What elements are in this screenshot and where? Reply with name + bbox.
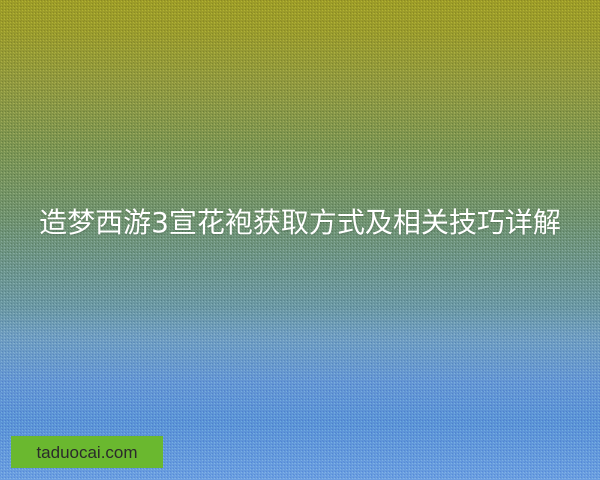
watermark-badge: taduocai.com xyxy=(11,436,163,468)
watermark-label: taduocai.com xyxy=(36,444,137,461)
page-title: 造梦西游3宣花袍获取方式及相关技巧详解 xyxy=(30,202,570,244)
cover-image-card: 造梦西游3宣花袍获取方式及相关技巧详解 taduocai.com xyxy=(0,0,600,480)
